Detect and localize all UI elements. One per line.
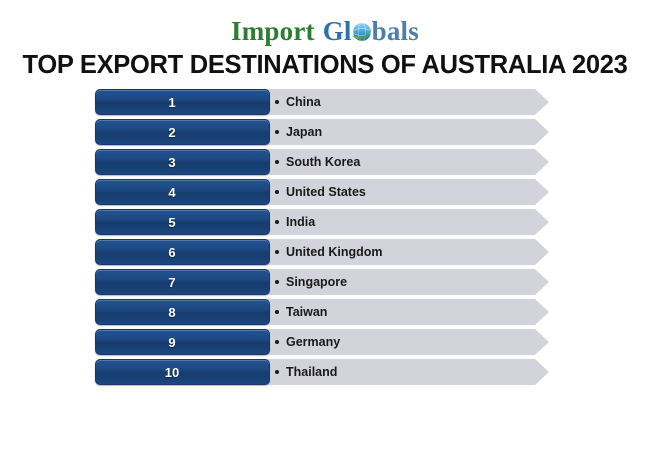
rank-number: 4 [96,180,248,204]
rank-chip: 10 [95,359,270,385]
list-item: 2 Japan [95,119,555,145]
bullet-icon [275,280,279,284]
country-label: Germany [286,335,340,349]
country-label-wrap: South Korea [275,149,360,175]
bullet-icon [275,130,279,134]
rank-number: 2 [96,120,248,144]
bullet-icon [275,160,279,164]
rank-number: 9 [96,330,248,354]
rank-chip: 5 [95,209,270,235]
list-item: 10 Thailand [95,359,555,385]
list-item: 5 India [95,209,555,235]
country-label-wrap: Japan [275,119,322,145]
rank-number: 7 [96,270,248,294]
country-label: South Korea [286,155,360,169]
list-item: 9 Germany [95,329,555,355]
rank-number: 10 [96,360,248,384]
page-title: TOP EXPORT DESTINATIONS OF AUSTRALIA 202… [0,51,650,80]
list-item: 4 United States [95,179,555,205]
country-label: India [286,215,315,229]
country-label: Singapore [286,275,347,289]
rank-chip: 2 [95,119,270,145]
country-label-wrap: Singapore [275,269,347,295]
brand-word-bals: bals [372,18,419,45]
country-label: Japan [286,125,322,139]
country-label-wrap: United Kingdom [275,239,383,265]
rank-number: 3 [96,150,248,174]
list-item: 7 Singapore [95,269,555,295]
country-label-wrap: Taiwan [275,299,327,325]
country-label: Thailand [286,365,337,379]
bullet-icon [275,220,279,224]
rank-chip: 8 [95,299,270,325]
list-item: 8 Taiwan [95,299,555,325]
country-label-wrap: Germany [275,329,340,355]
bullet-icon [275,370,279,374]
list-item: 6 United Kingdom [95,239,555,265]
list-item: 1 China [95,89,555,115]
country-label-wrap: India [275,209,315,235]
rank-chip: 4 [95,179,270,205]
brand-word-gl: Gl [323,18,352,45]
rank-chip: 1 [95,89,270,115]
brand-word-import: Import [231,18,315,45]
rank-chip: 7 [95,269,270,295]
rank-chip: 6 [95,239,270,265]
country-label: China [286,95,321,109]
bullet-icon [275,250,279,254]
country-label-wrap: United States [275,179,366,205]
globe-leaf-icon [351,21,373,43]
country-label: United Kingdom [286,245,383,259]
rank-chip: 9 [95,329,270,355]
list-item: 3 South Korea [95,149,555,175]
rank-chip: 3 [95,149,270,175]
brand-logo: Import Gl [0,12,650,50]
country-label: Taiwan [286,305,327,319]
rank-number: 5 [96,210,248,234]
rank-number: 1 [96,90,248,114]
bullet-icon [275,340,279,344]
country-label-wrap: Thailand [275,359,337,385]
ranking-list: 1 China 2 Japan 3 South Korea 4 [95,89,555,389]
country-label: United States [286,185,366,199]
bullet-icon [275,310,279,314]
rank-number: 6 [96,240,248,264]
country-label-wrap: China [275,89,321,115]
brand-logo-text: Import Gl [231,18,419,45]
bullet-icon [275,190,279,194]
bullet-icon [275,100,279,104]
rank-number: 8 [96,300,248,324]
